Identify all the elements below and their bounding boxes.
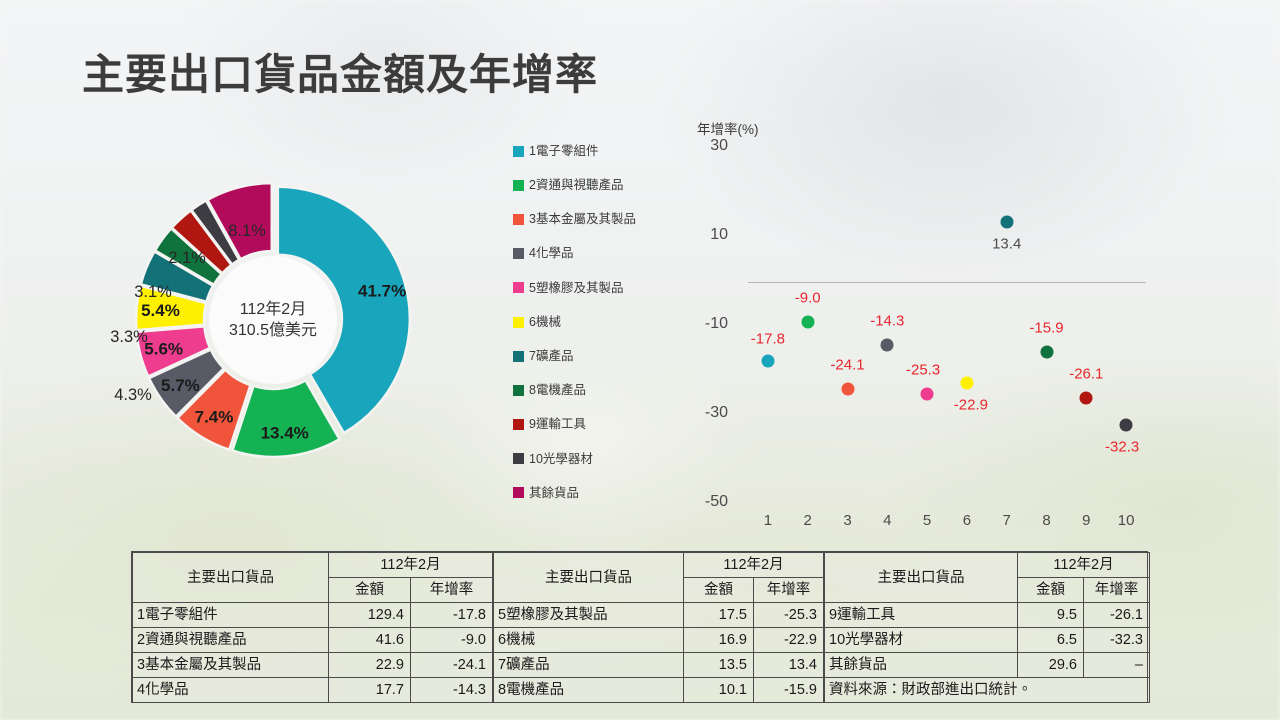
x-axis-tick-label: 3 (833, 512, 863, 529)
scatter-chart: 年增率(%) 3010-10-30-50 12345678910 -17.8-9… (690, 110, 1170, 535)
x-axis-tick-label: 6 (952, 512, 982, 529)
cell-amount: 16.9 (684, 628, 754, 653)
table-row[interactable]: 3基本金屬及其製品22.9-24.1 (133, 653, 493, 678)
table-row[interactable]: 6機械16.9-22.9 (494, 628, 824, 653)
cell-amount: 10.1 (684, 678, 754, 703)
table-source-row: 資料來源：財政部進出口統計。 (825, 678, 1150, 703)
y-axis-tick-label: 30 (692, 137, 728, 155)
table-row[interactable]: 7礦產品13.513.4 (494, 653, 824, 678)
column-header-period: 112年2月 (329, 553, 493, 578)
legend-item[interactable]: 1電子零組件 (513, 134, 693, 168)
donut-center-line1: 112年2月 (240, 300, 306, 318)
legend-item[interactable]: 2資通與視聽產品 (513, 168, 693, 202)
scatter-point-label: -25.3 (906, 362, 940, 379)
zero-reference-line (748, 282, 1146, 283)
x-axis-tick-label: 10 (1111, 512, 1141, 529)
donut-slice-label: 4.3% (114, 386, 152, 404)
legend-item-label: 3基本金屬及其製品 (529, 213, 636, 226)
chart-legend: 1電子零組件2資通與視聽產品3基本金屬及其製品4化學品5塑橡膠及其製品6機械7礦… (513, 134, 693, 510)
cell-product-name: 5塑橡膠及其製品 (494, 603, 684, 628)
column-header-name: 主要出口貨品 (825, 553, 1018, 603)
scatter-point-label: 13.4 (992, 235, 1021, 252)
table-row[interactable]: 1電子零組件129.4-17.8 (133, 603, 493, 628)
cell-product-name: 9運輸工具 (825, 603, 1018, 628)
donut-slice-label: 13.4% (261, 423, 309, 442)
scatter-point-label: -9.0 (795, 289, 821, 306)
scatter-point[interactable] (1120, 419, 1133, 432)
cell-product-name: 2資通與視聽產品 (133, 628, 329, 653)
donut-hole (209, 256, 337, 384)
donut-chart: 41.7%13.4%7.4%5.7%5.6%5.4%4.3%3.3%3.1%2.… (95, 120, 455, 500)
table-row[interactable]: 8電機產品10.1-15.9 (494, 678, 824, 703)
cell-yoy: -14.3 (411, 678, 493, 703)
cell-product-name: 10光學器材 (825, 628, 1018, 653)
donut-center-line2: 310.5億美元 (229, 321, 317, 339)
donut-slice-label: 5.6% (144, 340, 183, 359)
table-row[interactable]: 2資通與視聽產品41.6-9.0 (133, 628, 493, 653)
table-block: 主要出口貨品112年2月金額年增率9運輸工具9.5-26.110光學器材6.5-… (824, 552, 1150, 703)
legend-swatch-icon (513, 385, 524, 396)
legend-swatch-icon (513, 180, 524, 191)
cell-yoy: -25.3 (754, 603, 824, 628)
legend-item-label: 10光學器材 (529, 453, 593, 466)
column-header-yoy: 年增率 (754, 578, 824, 603)
legend-item-label: 6機械 (529, 316, 561, 329)
x-axis-tick-label: 5 (912, 512, 942, 529)
legend-swatch-icon (513, 419, 524, 430)
source-note: 資料來源：財政部進出口統計。 (825, 678, 1150, 703)
x-axis-tick-label: 2 (793, 512, 823, 529)
cell-amount: 22.9 (329, 653, 411, 678)
legend-item[interactable]: 5塑橡膠及其製品 (513, 271, 693, 305)
legend-swatch-icon (513, 487, 524, 498)
legend-item-label: 8電機產品 (529, 384, 586, 397)
y-axis-tick-label: -50 (692, 493, 728, 511)
x-axis-tick-label: 8 (1032, 512, 1062, 529)
donut-slice-label: 41.7% (358, 282, 406, 301)
table-header-row: 主要出口貨品112年2月 (494, 553, 824, 578)
legend-swatch-icon (513, 248, 524, 259)
x-axis-tick-label: 7 (992, 512, 1022, 529)
scatter-point[interactable] (960, 377, 973, 390)
cell-product-name: 6機械 (494, 628, 684, 653)
donut-svg: 41.7%13.4%7.4%5.7%5.6%5.4%4.3%3.3%3.1%2.… (95, 120, 455, 500)
legend-item-label: 4化學品 (529, 247, 573, 260)
y-axis-tick-label: 10 (692, 226, 728, 244)
table-block: 主要出口貨品112年2月金額年增率5塑橡膠及其製品17.5-25.36機械16.… (493, 552, 824, 703)
cell-product-name: 其餘貨品 (825, 653, 1018, 678)
cell-yoy: 13.4 (754, 653, 824, 678)
cell-amount: 9.5 (1018, 603, 1084, 628)
data-table: 主要出口貨品112年2月金額年增率1電子零組件129.4-17.82資通與視聽產… (131, 551, 1148, 703)
scatter-point[interactable] (801, 315, 814, 328)
cell-product-name: 3基本金屬及其製品 (133, 653, 329, 678)
legend-item[interactable]: 8電機產品 (513, 373, 693, 407)
cell-yoy: -9.0 (411, 628, 493, 653)
scatter-point[interactable] (1080, 391, 1093, 404)
y-axis-tick-label: -10 (692, 315, 728, 333)
legend-item[interactable]: 其餘貨品 (513, 476, 693, 510)
slide-canvas: 主要出口貨品金額及年增率 41.7%13.4%7.4%5.7%5.6%5.4%4… (0, 0, 1280, 720)
table-row[interactable]: 9運輸工具9.5-26.1 (825, 603, 1150, 628)
cell-product-name: 4化學品 (133, 678, 329, 703)
column-header-yoy: 年增率 (1084, 578, 1150, 603)
cell-amount: 41.6 (329, 628, 411, 653)
legend-swatch-icon (513, 453, 524, 464)
legend-item-label: 5塑橡膠及其製品 (529, 282, 623, 295)
legend-item-label: 其餘貨品 (529, 487, 579, 500)
scatter-point[interactable] (761, 354, 774, 367)
column-header-period: 112年2月 (684, 553, 824, 578)
column-header-amount: 金額 (329, 578, 411, 603)
cell-amount: 13.5 (684, 653, 754, 678)
table-block: 主要出口貨品112年2月金額年增率1電子零組件129.4-17.82資通與視聽產… (132, 552, 493, 703)
scatter-point-label: -24.1 (830, 356, 864, 373)
cell-amount: 29.6 (1018, 653, 1084, 678)
x-axis-tick-label: 1 (753, 512, 783, 529)
column-header-name: 主要出口貨品 (494, 553, 684, 603)
column-header-period: 112年2月 (1018, 553, 1150, 578)
scatter-point[interactable] (881, 339, 894, 352)
cell-yoy: -15.9 (754, 678, 824, 703)
scatter-point-label: -32.3 (1105, 439, 1139, 456)
scatter-point[interactable] (921, 388, 934, 401)
scatter-point-label: -15.9 (1029, 320, 1063, 337)
legend-item-label: 9運輸工具 (529, 418, 586, 431)
donut-slice-label: 3.1% (134, 283, 172, 301)
legend-item-label: 7礦產品 (529, 350, 573, 363)
scatter-point[interactable] (841, 382, 854, 395)
legend-swatch-icon (513, 351, 524, 362)
x-axis-tick-label: 9 (1071, 512, 1101, 529)
cell-amount: 129.4 (329, 603, 411, 628)
column-header-amount: 金額 (1018, 578, 1084, 603)
donut-slice-label: 5.7% (161, 376, 200, 395)
x-axis-tick-label: 4 (872, 512, 902, 529)
donut-slice-label: 2.1% (168, 249, 206, 267)
scatter-point-label: -14.3 (870, 313, 904, 330)
y-axis-tick-label: -30 (692, 404, 728, 422)
donut-slice-label: 8.1% (228, 222, 266, 240)
scatter-point[interactable] (1040, 346, 1053, 359)
legend-item[interactable]: 3基本金屬及其製品 (513, 202, 693, 236)
column-header-yoy: 年增率 (411, 578, 493, 603)
scatter-point[interactable] (1000, 215, 1013, 228)
cell-yoy: -26.1 (1084, 603, 1150, 628)
donut-slice-label: 7.4% (195, 407, 234, 426)
legend-swatch-icon (513, 282, 524, 293)
cell-amount: 17.5 (684, 603, 754, 628)
legend-item[interactable]: 10光學器材 (513, 442, 693, 476)
column-header-name: 主要出口貨品 (133, 553, 329, 603)
legend-item[interactable]: 6機械 (513, 305, 693, 339)
cell-yoy: -17.8 (411, 603, 493, 628)
table-row[interactable]: 10光學器材6.5-32.3 (825, 628, 1150, 653)
table-header-row: 主要出口貨品112年2月 (133, 553, 493, 578)
table-header-row: 主要出口貨品112年2月 (825, 553, 1150, 578)
scatter-point-label: -17.8 (751, 330, 785, 347)
cell-product-name: 1電子零組件 (133, 603, 329, 628)
legend-swatch-icon (513, 146, 524, 157)
cell-product-name: 8電機產品 (494, 678, 684, 703)
cell-yoy: -24.1 (411, 653, 493, 678)
cell-amount: 17.7 (329, 678, 411, 703)
cell-yoy: – (1084, 653, 1150, 678)
donut-slice-label: 3.3% (110, 328, 148, 346)
cell-yoy: -32.3 (1084, 628, 1150, 653)
legend-swatch-icon (513, 214, 524, 225)
page-title: 主要出口貨品金額及年增率 (82, 41, 598, 102)
scatter-point-label: -22.9 (954, 397, 988, 414)
legend-item-label: 1電子零組件 (529, 145, 598, 158)
table-row[interactable]: 5塑橡膠及其製品17.5-25.3 (494, 603, 824, 628)
legend-item-label: 2資通與視聽產品 (529, 179, 623, 192)
legend-swatch-icon (513, 317, 524, 328)
scatter-point-label: -26.1 (1069, 365, 1103, 382)
legend-item[interactable]: 4化學品 (513, 237, 693, 271)
cell-yoy: -22.9 (754, 628, 824, 653)
donut-slice-label: 5.4% (141, 301, 180, 320)
cell-product-name: 7礦產品 (494, 653, 684, 678)
legend-item[interactable]: 7礦產品 (513, 339, 693, 373)
scatter-axis-title: 年增率(%) (697, 118, 759, 138)
column-header-amount: 金額 (684, 578, 754, 603)
table-row[interactable]: 4化學品17.7-14.3 (133, 678, 493, 703)
cell-amount: 6.5 (1018, 628, 1084, 653)
table-row[interactable]: 其餘貨品29.6– (825, 653, 1150, 678)
legend-item[interactable]: 9運輸工具 (513, 408, 693, 442)
